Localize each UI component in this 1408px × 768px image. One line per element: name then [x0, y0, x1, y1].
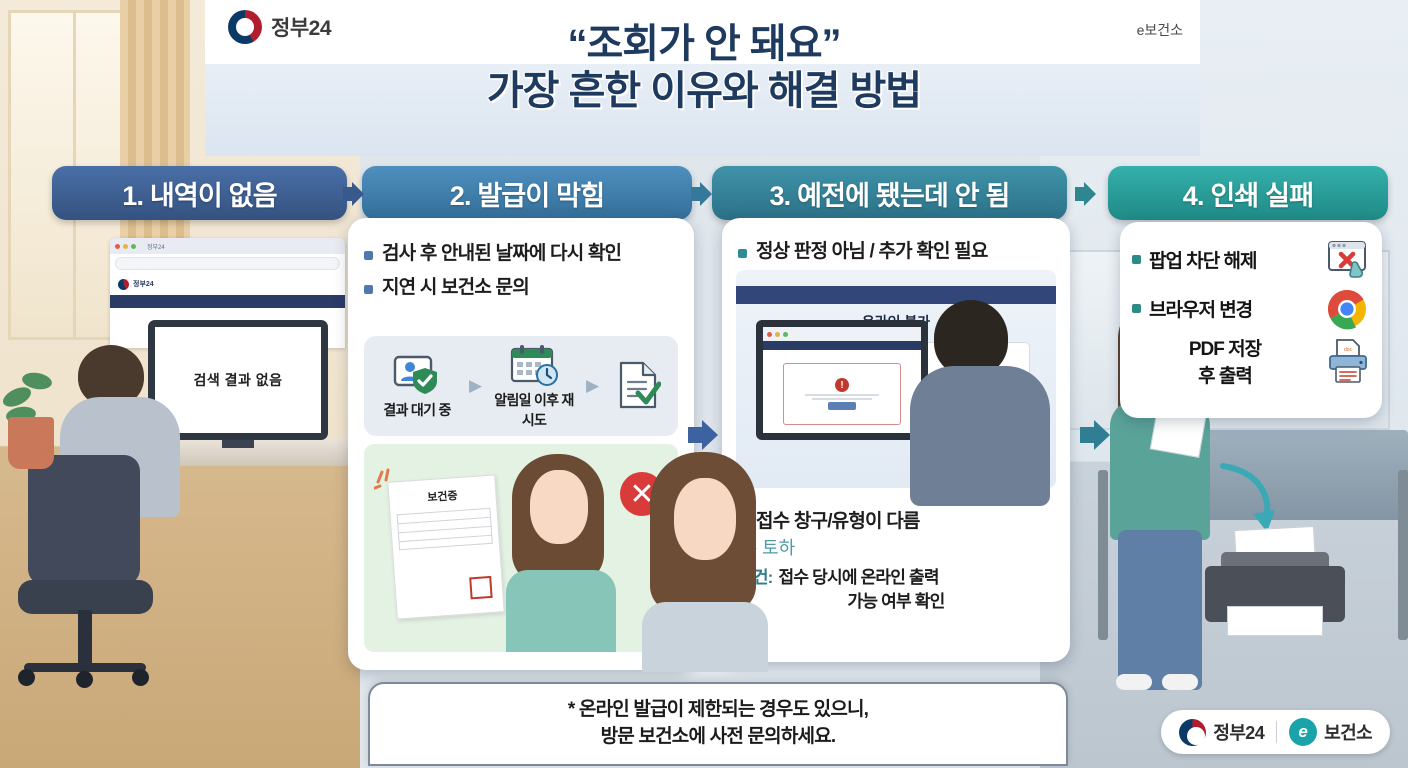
bullet-dot-icon: [364, 285, 373, 294]
panel3-bullet-1-text: 정상 판정 아님 / 추가 확인 필요: [756, 240, 988, 264]
infographic-canvas: 정부24 정부24 검색 결과 없음: [0, 0, 1408, 768]
monitor-nav: [763, 341, 921, 350]
browser-tab-label: 정부24: [147, 242, 165, 251]
person-side-illustration: [640, 452, 770, 670]
monitor-stand: [222, 440, 254, 448]
error-dialog: !: [783, 363, 901, 425]
panel2-illustration: 보건증 ✕: [364, 444, 678, 652]
panel4-row-pdf: PDF 저장 후 출력 doc: [1120, 334, 1382, 388]
step-header-2[interactable]: 2. 발급이 막힘: [362, 166, 692, 220]
icon-step-waiting: 결과 대기 중: [375, 352, 459, 420]
panel3-sub-arrow-text: ➡ 토하: [742, 534, 1070, 560]
dialog-confirm-button[interactable]: [828, 402, 856, 410]
step-arrow-icon: [688, 181, 714, 207]
svg-text:doc: doc: [1344, 347, 1353, 353]
footer-gov24-logo: 정부24: [1179, 719, 1264, 746]
panel2-bullet-2: 지연 시 보건소 문의: [348, 276, 694, 300]
step-header-4[interactable]: 4. 인쇄 실패: [1108, 166, 1388, 220]
icon-step-retry-label: 알림일 이후 재시도: [492, 390, 576, 430]
flow-arrow-icon: [1078, 418, 1112, 452]
panel3-bullet-2-text: 접수 창구/유형이 다름: [756, 510, 920, 534]
step-header-1[interactable]: 1. 내역이 없음: [52, 166, 347, 220]
panel3-condition: 조건: 접수 당시에 온라인 출력: [722, 563, 1070, 588]
monitor-browser-bar: [763, 327, 921, 341]
step-arrow-icon: [1072, 181, 1098, 207]
bullet-dot-icon: [364, 251, 373, 260]
panel4-row-popup-label: 팝업 차단 해제: [1149, 246, 1318, 273]
page-title: “조회가 안 돼요” 가장 흔한 이유와 해결 방법: [0, 22, 1408, 114]
bullet-dot-icon: [1132, 304, 1141, 313]
footer-logo-bar: 정부24 e 보건소: [1161, 710, 1390, 754]
printer-illustration: [1205, 540, 1345, 636]
office-chair: [18, 455, 153, 690]
bullet-dot-icon: [1132, 255, 1141, 264]
browser-url-bar: [115, 257, 340, 270]
footer-health-logo: e 보건소: [1289, 718, 1372, 746]
monitor-message: 검색 결과 없음: [193, 370, 282, 390]
footer-note-line-1: * 온라인 발급이 제한되는 경우도 있으니,: [568, 697, 868, 724]
footer-note-line-2: 방문 보건소에 사전 문의하세요.: [601, 724, 836, 751]
certificate-title: 보건증: [389, 484, 496, 507]
panel3-bullet-1: 정상 판정 아님 / 추가 확인 필요: [722, 240, 1070, 264]
flow-arrow-icon: [686, 418, 720, 452]
step-arrow-icon: [340, 181, 366, 207]
footer-gov24-label: 정부24: [1213, 719, 1264, 745]
panel2-bullet-1-text: 검사 후 안내된 날짜에 다시 확인: [382, 242, 621, 266]
queue-post: [1398, 470, 1408, 640]
panel3-condition-2: 가능 여부 확인: [722, 591, 1070, 612]
footer-note: * 온라인 발급이 제한되는 경우도 있으니, 방문 보건소에 사전 문의하세요…: [368, 682, 1068, 766]
panel4-row-pdf-label-1: PDF 저장: [1132, 334, 1318, 361]
warning-icon: !: [835, 378, 849, 392]
printer-icon: doc: [1326, 338, 1370, 384]
plant-decor: [2, 355, 60, 475]
chrome-browser-icon: [1326, 288, 1370, 328]
document-check-icon: [615, 360, 661, 410]
icon-step-retry: 알림일 이후 재시도: [492, 342, 576, 430]
site-logo-label: 정부24: [133, 279, 154, 289]
popup-blocked-icon: [1326, 239, 1370, 279]
id-card-shield-icon: [391, 352, 443, 398]
panel2-bullet-1: 검사 후 안내된 날짜에 다시 확인: [348, 242, 694, 266]
confused-person-illustration: [504, 452, 624, 652]
step-header-3[interactable]: 3. 예전에 됐는데 안 됨: [712, 166, 1067, 220]
official-stamp-icon: [469, 576, 492, 599]
e-health-icon: e: [1289, 718, 1317, 746]
calendar-clock-icon: [508, 342, 560, 388]
step-header-1-label: 1. 내역이 없음: [122, 174, 277, 213]
title-line-1: “조회가 안 돼요”: [0, 22, 1408, 67]
panel3-condition-line2: 가능 여부 확인: [848, 591, 945, 612]
chevron-right-icon: ▶: [469, 376, 482, 396]
step-header-3-label: 3. 예전에 됐는데 안 됨: [769, 174, 1009, 213]
panel4-row-browser: 브라우저 변경: [1120, 288, 1382, 328]
certificate-fields: [397, 508, 493, 550]
panel2-bullet-2-text: 지연 시 보건소 문의: [382, 276, 529, 300]
divider: [1276, 721, 1277, 743]
panel2-icon-steps: 결과 대기 중 ▶ 알림일 이후 재시도 ▶: [364, 336, 678, 436]
panel4-row-pdf-label-2: 후 출력: [1132, 361, 1318, 388]
site-logo-mock: 정부24: [110, 273, 345, 295]
panel4-row-browser-label: 브라우저 변경: [1149, 295, 1318, 322]
monitor-error-dialog: !: [756, 320, 928, 440]
icon-step-done: [609, 360, 667, 412]
browser-titlebar: 정부24: [110, 238, 345, 254]
icon-step-waiting-label: 결과 대기 중: [375, 400, 459, 420]
taeguk-icon: [1179, 719, 1206, 746]
health-certificate-document: 보건증: [387, 474, 504, 619]
step-header-2-label: 2. 발급이 막힘: [450, 174, 605, 213]
person-viewing-error: [910, 300, 1050, 500]
footer-health-label: 보건소: [1324, 719, 1372, 745]
chevron-right-icon: ▶: [586, 376, 599, 396]
title-line-2: 가장 흔한 이유와 해결 방법: [0, 69, 1408, 114]
panel3-condition-line1: 접수 당시에 온라인 출력: [779, 567, 939, 588]
panel4-row-popup: 팝업 차단 해제: [1120, 239, 1382, 279]
panel-step-4: 팝업 차단 해제 브라우저 변경: [1120, 222, 1382, 418]
panel3-bullet-2: 접수 창구/유형이 다름: [722, 510, 1070, 534]
step-header-4-label: 4. 인쇄 실패: [1183, 174, 1313, 213]
site-nav-mock: [110, 295, 345, 308]
bullet-dot-icon: [738, 249, 747, 258]
